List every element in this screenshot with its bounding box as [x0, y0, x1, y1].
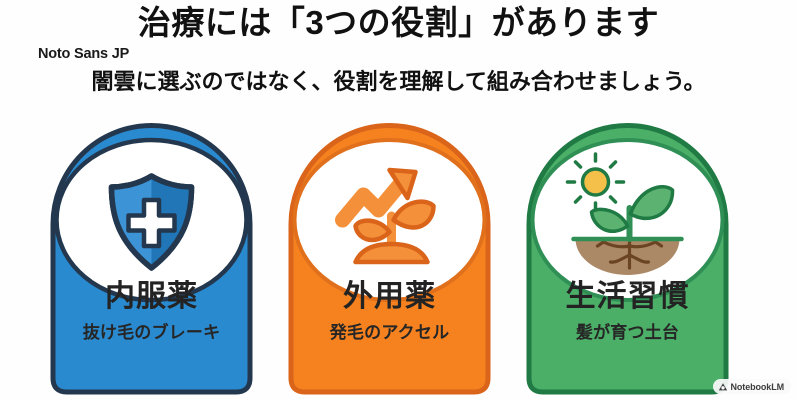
card-shape-green [521, 112, 734, 398]
role-card-list: 内服薬 抜け毛のブレーキ [0, 112, 797, 401]
notebooklm-icon [718, 382, 728, 392]
card-shape-orange [283, 112, 496, 398]
page-subtitle: 闇雲に選ぶのではなく、役割を理解して組み合わせましょう。 [0, 64, 797, 96]
role-card-gaiyouyaku[interactable]: 外用薬 発毛のアクセル [283, 112, 496, 398]
notebooklm-watermark: NotebookLM [713, 379, 792, 394]
role-card-naifukuyaku[interactable]: 内服薬 抜け毛のブレーキ [45, 112, 258, 398]
page-title: 治療には「3つの役割」があります [0, 2, 797, 44]
slide-canvas: 治療には「3つの役割」があります Noto Sans JP 闇雲に選ぶのではなく… [0, 0, 797, 401]
card-shape-blue [45, 112, 258, 398]
watermark-label: NotebookLM [731, 382, 785, 392]
role-card-seikatsushukan[interactable]: 生活習慣 髪が育つ土台 [521, 112, 734, 398]
font-note-label: Noto Sans JP [38, 46, 129, 62]
